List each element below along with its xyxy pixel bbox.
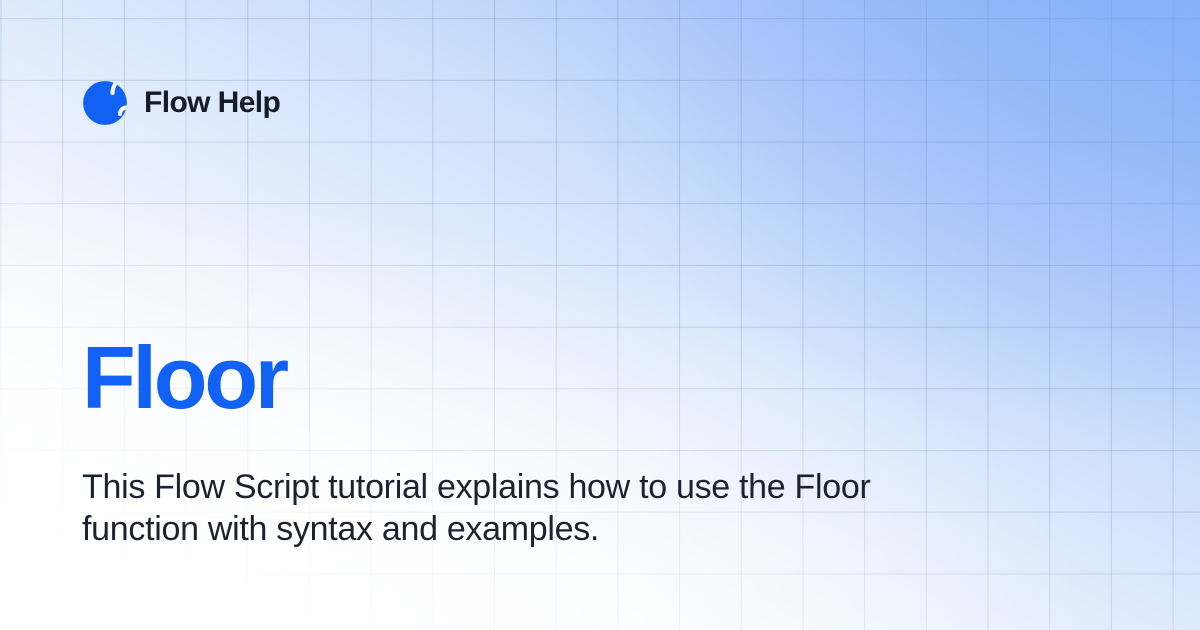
flow-help-waves-logo-icon [82,80,128,126]
brand-lockup[interactable]: Flow Help [82,80,280,126]
brand-name-label: Flow Help [144,88,280,118]
page-subtitle: This Flow Script tutorial explains how t… [82,466,892,550]
page-title: Floor [82,334,286,422]
social-card: Flow Help Floor This Flow Script tutoria… [0,0,1200,630]
